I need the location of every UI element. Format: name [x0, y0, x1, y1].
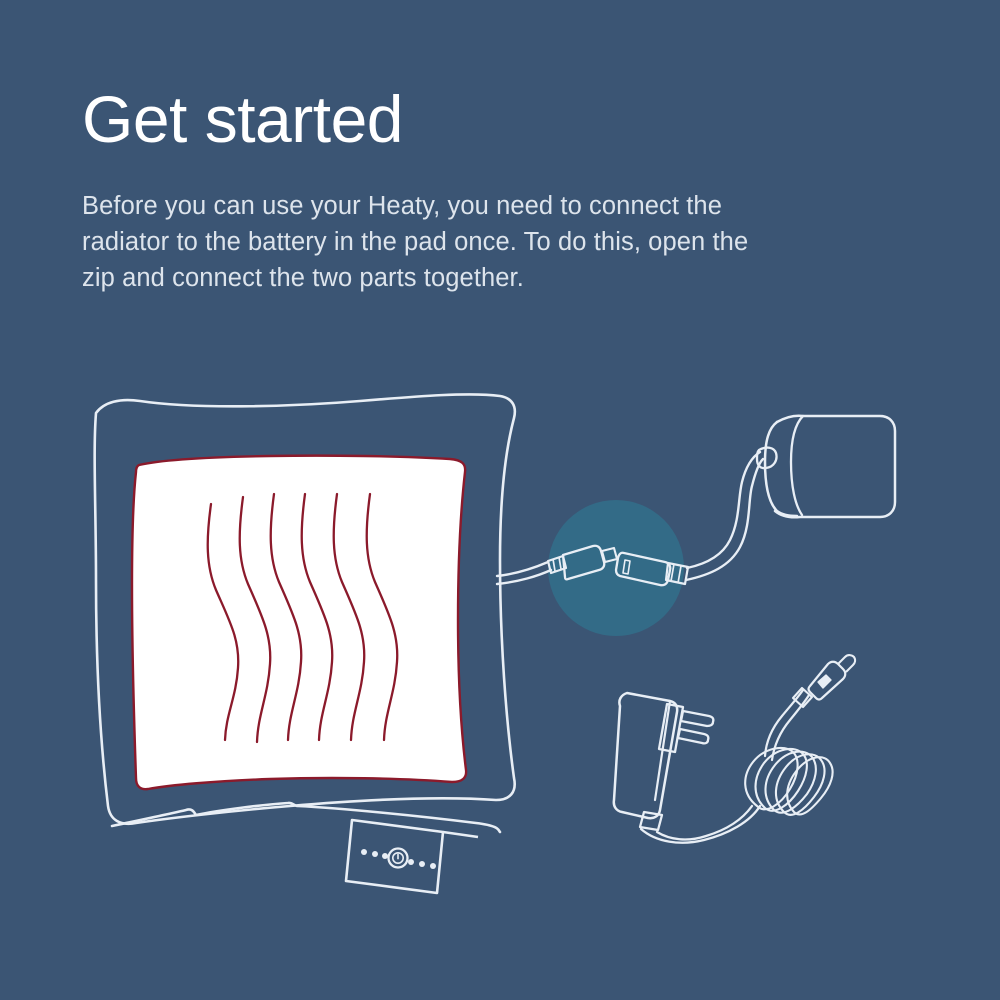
jack-band	[818, 675, 831, 688]
control-panel[interactable]	[346, 820, 443, 893]
led-dots-left	[361, 849, 388, 859]
led-dot	[372, 851, 378, 857]
adapter-cable-strain	[640, 812, 662, 830]
jack-cable-edge-a	[765, 690, 803, 756]
led-dots-right	[408, 859, 436, 869]
cushion-inner-panel	[132, 456, 466, 790]
control-panel-seam	[443, 832, 478, 837]
prong-upper	[681, 711, 713, 726]
battery-left-seam	[791, 416, 803, 515]
illustration-canvas	[0, 0, 1000, 1000]
coil-loop-5	[787, 757, 832, 814]
prong-lower	[678, 729, 708, 743]
pad-cable-edge-b	[497, 570, 551, 584]
setup-illustration	[0, 0, 1000, 1000]
adapter-output-cable	[640, 806, 760, 843]
led-dot	[408, 859, 414, 865]
adapter-cable-edge-b	[657, 806, 752, 839]
battery-radiator-unit	[775, 416, 895, 518]
led-dot	[430, 863, 436, 869]
page-root: Get started Before you can use your Heat…	[0, 0, 1000, 1000]
jack-tip	[838, 655, 855, 672]
adapter-barrel-jack	[793, 655, 855, 707]
pad-cable	[497, 562, 551, 584]
led-dot	[419, 861, 425, 867]
led-dot	[361, 849, 367, 855]
led-dot	[382, 853, 388, 859]
battery-cable	[686, 452, 763, 580]
coiled-adapter-cable	[745, 748, 832, 815]
eu-two-pin-prongs	[659, 704, 713, 752]
battery-cable-edge-b	[686, 459, 763, 580]
